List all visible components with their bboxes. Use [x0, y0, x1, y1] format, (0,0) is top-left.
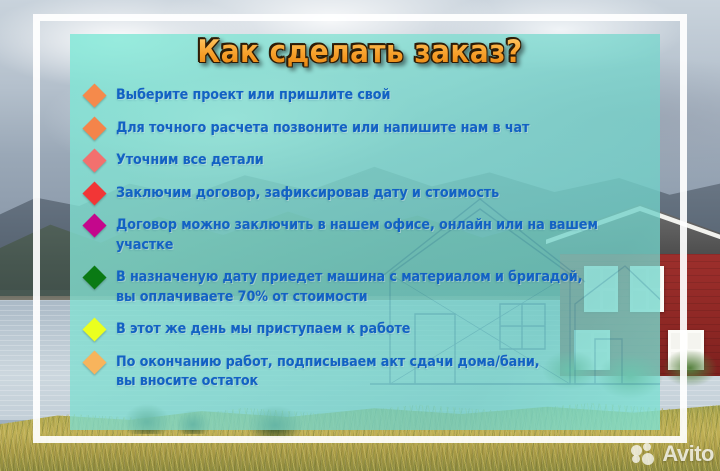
diamond-bullet-icon: [82, 83, 106, 107]
diamond-bullet-icon: [82, 317, 106, 341]
page-title: Как сделать заказ?: [0, 34, 720, 70]
list-item: Уточним все детали: [86, 151, 656, 171]
avito-watermark: Avito: [631, 443, 714, 465]
promo-image: Как сделать заказ? Выберите проект или п…: [0, 0, 720, 471]
list-item: В назначеную дату приедет машина с матер…: [86, 268, 656, 307]
list-item-label: По окончанию работ, подписываем акт сдач…: [116, 353, 539, 392]
avito-watermark-label: Avito: [662, 443, 714, 465]
list-item-label: В назначеную дату приедет машина с матер…: [116, 268, 582, 307]
list-item: По окончанию работ, подписываем акт сдач…: [86, 353, 656, 392]
diamond-bullet-icon: [82, 181, 106, 205]
list-item-label: Выберите проект или пришлите свой: [116, 86, 390, 106]
list-item: Выберите проект или пришлите свой: [86, 86, 656, 106]
list-item: Для точного расчета позвоните или напиши…: [86, 119, 656, 139]
list-item: В этот же день мы приступаем к работе: [86, 320, 656, 340]
diamond-bullet-icon: [82, 350, 106, 374]
list-item-label: Заключим договор, зафиксировав дату и ст…: [116, 184, 499, 204]
diamond-bullet-icon: [82, 213, 106, 237]
list-item-label: Для точного расчета позвоните или напиши…: [116, 119, 529, 139]
diamond-bullet-icon: [82, 265, 106, 289]
list-item-label: Договор можно заключить в нашем офисе, о…: [116, 216, 656, 255]
list-item: Договор можно заключить в нашем офисе, о…: [86, 216, 656, 255]
list-item-label: В этот же день мы приступаем к работе: [116, 320, 410, 340]
steps-list: Выберите проект или пришлите свой Для то…: [86, 86, 656, 405]
list-item-label: Уточним все детали: [116, 151, 264, 171]
diamond-bullet-icon: [82, 148, 106, 172]
avito-logo-icon: [631, 443, 657, 465]
diamond-bullet-icon: [82, 116, 106, 140]
list-item: Заключим договор, зафиксировав дату и ст…: [86, 184, 656, 204]
